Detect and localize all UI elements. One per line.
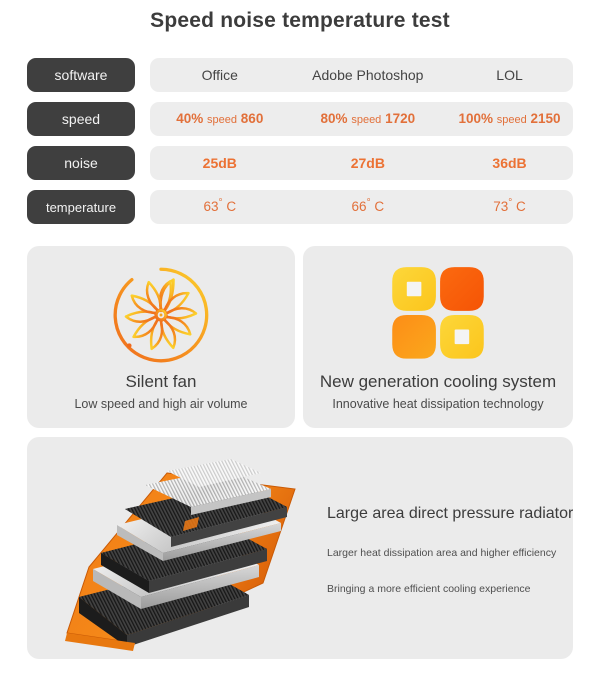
cell-noise-lol: 36dB <box>446 155 573 171</box>
row-label-text: software <box>55 67 108 83</box>
card-title: New generation cooling system <box>320 372 556 392</box>
feature-cards: Silent fan Low speed and high air volume <box>27 246 573 428</box>
cell-software-lol: LOL <box>446 67 573 83</box>
cooling-squares-icon <box>386 260 490 370</box>
speed-word: speed <box>497 114 527 126</box>
degree-symbol: ° <box>367 198 371 209</box>
table-row: software Office Adobe Photoshop LOL <box>0 58 600 92</box>
card-subtitle: Low speed and high air volume <box>74 397 247 411</box>
cell-speed-photoshop: 80% speed 1720 <box>290 110 447 128</box>
row-label-temperature: temperature <box>27 190 135 224</box>
feature-card-cooling-system: New generation cooling system Innovative… <box>303 246 573 428</box>
banner-title: Large area direct pressure radiator <box>327 505 573 523</box>
speed-rpm: 2150 <box>531 111 561 126</box>
cell-noise-photoshop: 27dB <box>290 155 447 171</box>
heatsink-radiator-image <box>49 447 329 652</box>
cell-temp-office: 63° C <box>150 198 290 217</box>
row-values-noise: 25dB 27dB 36dB <box>150 146 573 180</box>
cell-software-photoshop: Adobe Photoshop <box>290 67 447 83</box>
row-label-speed: speed <box>27 102 135 136</box>
temp-unit: C <box>226 199 236 214</box>
degree-symbol: ° <box>219 198 223 209</box>
cell-noise-office: 25dB <box>150 155 290 171</box>
speed-percent: 80% <box>321 111 348 126</box>
cell-software-office: Office <box>150 67 290 83</box>
banner-line-2: Bringing a more efficient cooling experi… <box>327 583 573 595</box>
radiator-banner: Large area direct pressure radiator Larg… <box>27 437 573 659</box>
speed-word: speed <box>207 114 237 126</box>
row-label-text: speed <box>62 111 100 127</box>
speed-percent: 100% <box>458 111 493 126</box>
table-row: speed 40% speed 860 80% speed 1720 100% … <box>0 102 600 136</box>
card-subtitle: Innovative heat dissipation technology <box>332 397 543 411</box>
cell-temp-lol: 73° C <box>446 198 573 217</box>
page-title: Speed noise temperature test <box>0 9 600 33</box>
cell-temp-photoshop: 66° C <box>290 198 447 217</box>
row-label-text: noise <box>64 155 97 171</box>
row-label-text: temperature <box>46 200 116 215</box>
row-label-noise: noise <box>27 146 135 180</box>
cell-speed-lol: 100% speed 2150 <box>446 110 573 128</box>
row-values-speed: 40% speed 860 80% speed 1720 100% speed … <box>150 102 573 136</box>
product-spec-infographic: Speed noise temperature test software Of… <box>0 0 600 694</box>
feature-card-silent-fan: Silent fan Low speed and high air volume <box>27 246 295 428</box>
speed-rpm: 1720 <box>385 111 415 126</box>
cell-speed-office: 40% speed 860 <box>150 110 290 128</box>
speed-rpm: 860 <box>241 111 264 126</box>
degree-symbol: ° <box>508 198 512 209</box>
square-bottom-left <box>392 315 436 359</box>
temp-value: 73 <box>493 199 508 214</box>
fan-icon <box>109 260 213 370</box>
table-row: noise 25dB 27dB 36dB <box>0 146 600 180</box>
table-row: temperature 63° C 66° C 73° C <box>0 190 600 224</box>
temp-value: 63 <box>204 199 219 214</box>
row-values-software: Office Adobe Photoshop LOL <box>150 58 573 92</box>
radiator-text-block: Large area direct pressure radiator Larg… <box>327 505 573 595</box>
card-title: Silent fan <box>126 372 197 392</box>
temp-value: 66 <box>352 199 367 214</box>
cooling-squares-icon-svg <box>386 263 490 367</box>
row-values-temperature: 63° C 66° C 73° C <box>150 190 573 224</box>
speed-percent: 40% <box>176 111 203 126</box>
square-top-right <box>440 267 484 311</box>
fan-icon-svg <box>109 263 213 367</box>
speed-word: speed <box>351 114 381 126</box>
row-label-software: software <box>27 58 135 92</box>
temp-unit: C <box>374 199 384 214</box>
spec-table: software Office Adobe Photoshop LOL spee… <box>0 58 600 234</box>
banner-line-1: Larger heat dissipation area and higher … <box>327 547 573 559</box>
temp-unit: C <box>516 199 526 214</box>
